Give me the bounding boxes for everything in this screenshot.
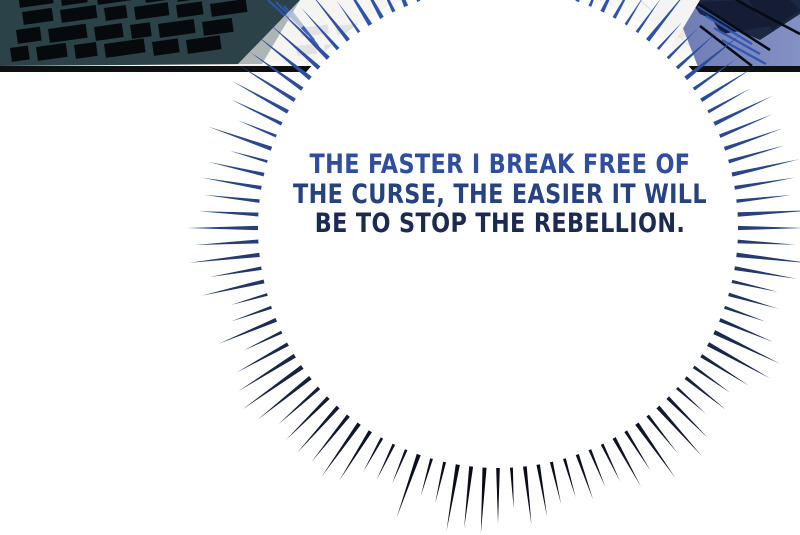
dialogue-text-block: THE FASTER I BREAK FREE OF THE CURSE, TH… bbox=[270, 150, 730, 239]
burst-spike bbox=[188, 226, 258, 230]
dialogue-line-2: THE CURSE, THE EASIER IT WILL bbox=[270, 180, 730, 210]
comic-panel: THE FASTER I BREAK FREE OF THE CURSE, TH… bbox=[0, 0, 800, 535]
burst-spike bbox=[195, 239, 258, 245]
burst-inner-disc bbox=[250, 0, 750, 480]
dialogue-line-1: THE FASTER I BREAK FREE OF bbox=[270, 150, 730, 180]
burst-spike bbox=[208, 127, 272, 151]
dialogue-line-3: BE TO STOP THE REBELLION. bbox=[270, 209, 730, 239]
burst-spike bbox=[189, 253, 259, 263]
